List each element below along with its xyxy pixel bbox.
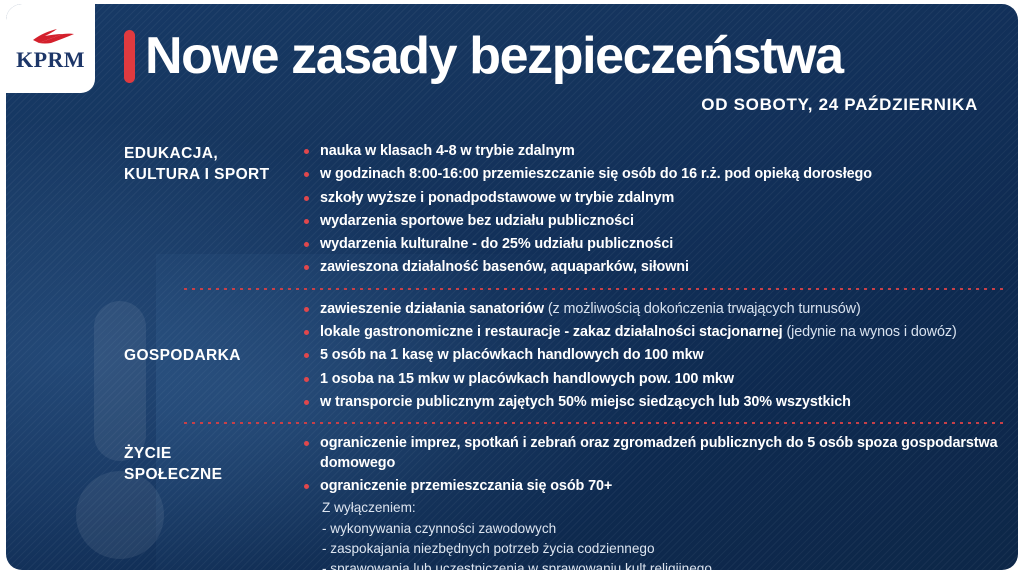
title-row: Nowe zasady bezpieczeństwa — [124, 28, 1004, 83]
list-item: 5 osób na 1 kasę w placówkach handlowych… — [302, 346, 1004, 365]
polish-flag-emblem-icon — [27, 26, 75, 48]
section-label-line1: ŻYCIE — [124, 444, 290, 465]
bullet-text: 1 osoba na 15 mkw w placówkach handlowyc… — [320, 371, 734, 387]
section-label-line1: GOSPODARKA — [124, 346, 290, 367]
bullet-list-gospodarka: zawieszenie działania sanatoriów (z możl… — [302, 300, 1004, 412]
bullet-text: ograniczenie imprez, spotkań i zebrań or… — [320, 435, 997, 470]
section-label-line2: SPOŁECZNE — [124, 465, 290, 486]
section-divider — [184, 422, 1004, 424]
bullet-list-edukacja: nauka w klasach 4-8 w trybie zdalnym w g… — [302, 142, 1004, 278]
kprm-logo-text: KPRM — [16, 49, 85, 71]
subnote-exclusions: Z wyłączeniem: - wykonywania czynności z… — [302, 498, 1004, 570]
kprm-logo: KPRM — [6, 4, 95, 93]
bullet-text: 5 osób na 1 kasę w placówkach handlowych… — [320, 347, 704, 363]
section-label-edukacja: EDUKACJA, KULTURA I SPORT — [124, 142, 302, 186]
list-item: nauka w klasach 4-8 w trybie zdalnym — [302, 142, 1004, 161]
bullet-text: wydarzenia kulturalne - do 25% udziału p… — [320, 236, 673, 252]
bullet-text: wydarzenia sportowe bez udziału publiczn… — [320, 213, 634, 229]
section-label-line2: KULTURA I SPORT — [124, 165, 290, 186]
list-item: zawieszona działalność basenów, aquapark… — [302, 258, 1004, 277]
section-label-line1: EDUKACJA, — [124, 144, 290, 165]
bullet-text: ograniczenie przemieszczania się osób 70… — [320, 478, 612, 494]
list-item: ograniczenie imprez, spotkań i zebrań or… — [302, 434, 1004, 473]
sections-list: EDUKACJA, KULTURA I SPORT nauka w klasac… — [124, 142, 1004, 570]
bullet-text: w transporcie publicznym zajętych 50% mi… — [320, 394, 851, 410]
section-body-zycie-spoleczne: ograniczenie imprez, spotkań i zebrań or… — [302, 434, 1004, 570]
subnote-item: - zaspokajania niezbędnych potrzeb życia… — [322, 539, 1004, 559]
list-item: 1 osoba na 15 mkw w placówkach handlowyc… — [302, 370, 1004, 389]
list-item: w godzinach 8:00-16:00 przemieszczanie s… — [302, 165, 1004, 184]
bullet-list-zycie-spoleczne: ograniczenie imprez, spotkań i zebrań or… — [302, 434, 1004, 496]
section-body-gospodarka: zawieszenie działania sanatoriów (z możl… — [302, 300, 1004, 412]
section-body-edukacja: nauka w klasach 4-8 w trybie zdalnym w g… — [302, 142, 1004, 278]
bullet-text: nauka w klasach 4-8 w trybie zdalnym — [320, 143, 575, 159]
page-title: Nowe zasady bezpieczeństwa — [145, 30, 843, 82]
section-zycie-spoleczne: ŻYCIE SPOŁECZNE ograniczenie imprez, spo… — [124, 434, 1004, 570]
subnote-item: - wykonywania czynności zawodowych — [322, 519, 1004, 539]
bullet-soft-text: (jedynie na wynos i dowóz) — [783, 324, 957, 340]
section-edukacja: EDUKACJA, KULTURA I SPORT nauka w klasac… — [124, 142, 1004, 278]
list-item: zawieszenie działania sanatoriów (z możl… — [302, 300, 1004, 319]
section-label-gospodarka: GOSPODARKA — [124, 346, 302, 367]
header: Nowe zasady bezpieczeństwa OD SOBOTY, 24… — [124, 28, 1004, 115]
section-label-zycie-spoleczne: ŻYCIE SPOŁECZNE — [124, 434, 302, 486]
list-item: w transporcie publicznym zajętych 50% mi… — [302, 393, 1004, 412]
subnote-item: - sprawowania lub uczestniczenia w spraw… — [322, 559, 1004, 570]
bullet-text: szkoły wyższe i ponadpodstawowe w trybie… — [320, 190, 674, 206]
bullet-text: lokale gastronomiczne i restauracje - za… — [320, 324, 783, 340]
section-divider — [184, 288, 1004, 290]
page-subtitle: OD SOBOTY, 24 PAŹDZIERNIKA — [124, 95, 1004, 115]
bullet-text: zawieszenie działania sanatoriów — [320, 301, 544, 317]
subnote-intro: Z wyłączeniem: — [322, 498, 1004, 518]
list-item: wydarzenia kulturalne - do 25% udziału p… — [302, 235, 1004, 254]
list-item: wydarzenia sportowe bez udziału publiczn… — [302, 212, 1004, 231]
bullet-soft-text: (z możliwością dokończenia trwających tu… — [544, 301, 861, 317]
title-accent-bar — [124, 30, 135, 83]
list-item: lokale gastronomiczne i restauracje - za… — [302, 323, 1004, 342]
poster-root: KPRM Nowe zasady bezpieczeństwa OD SOBOT… — [0, 0, 1024, 576]
bullet-text: w godzinach 8:00-16:00 przemieszczanie s… — [320, 166, 872, 182]
poster-card: KPRM Nowe zasady bezpieczeństwa OD SOBOT… — [6, 4, 1018, 570]
list-item: szkoły wyższe i ponadpodstawowe w trybie… — [302, 189, 1004, 208]
section-gospodarka: GOSPODARKA zawieszenie działania sanator… — [124, 300, 1004, 412]
bullet-text: zawieszona działalność basenów, aquapark… — [320, 259, 689, 275]
list-item: ograniczenie przemieszczania się osób 70… — [302, 477, 1004, 496]
